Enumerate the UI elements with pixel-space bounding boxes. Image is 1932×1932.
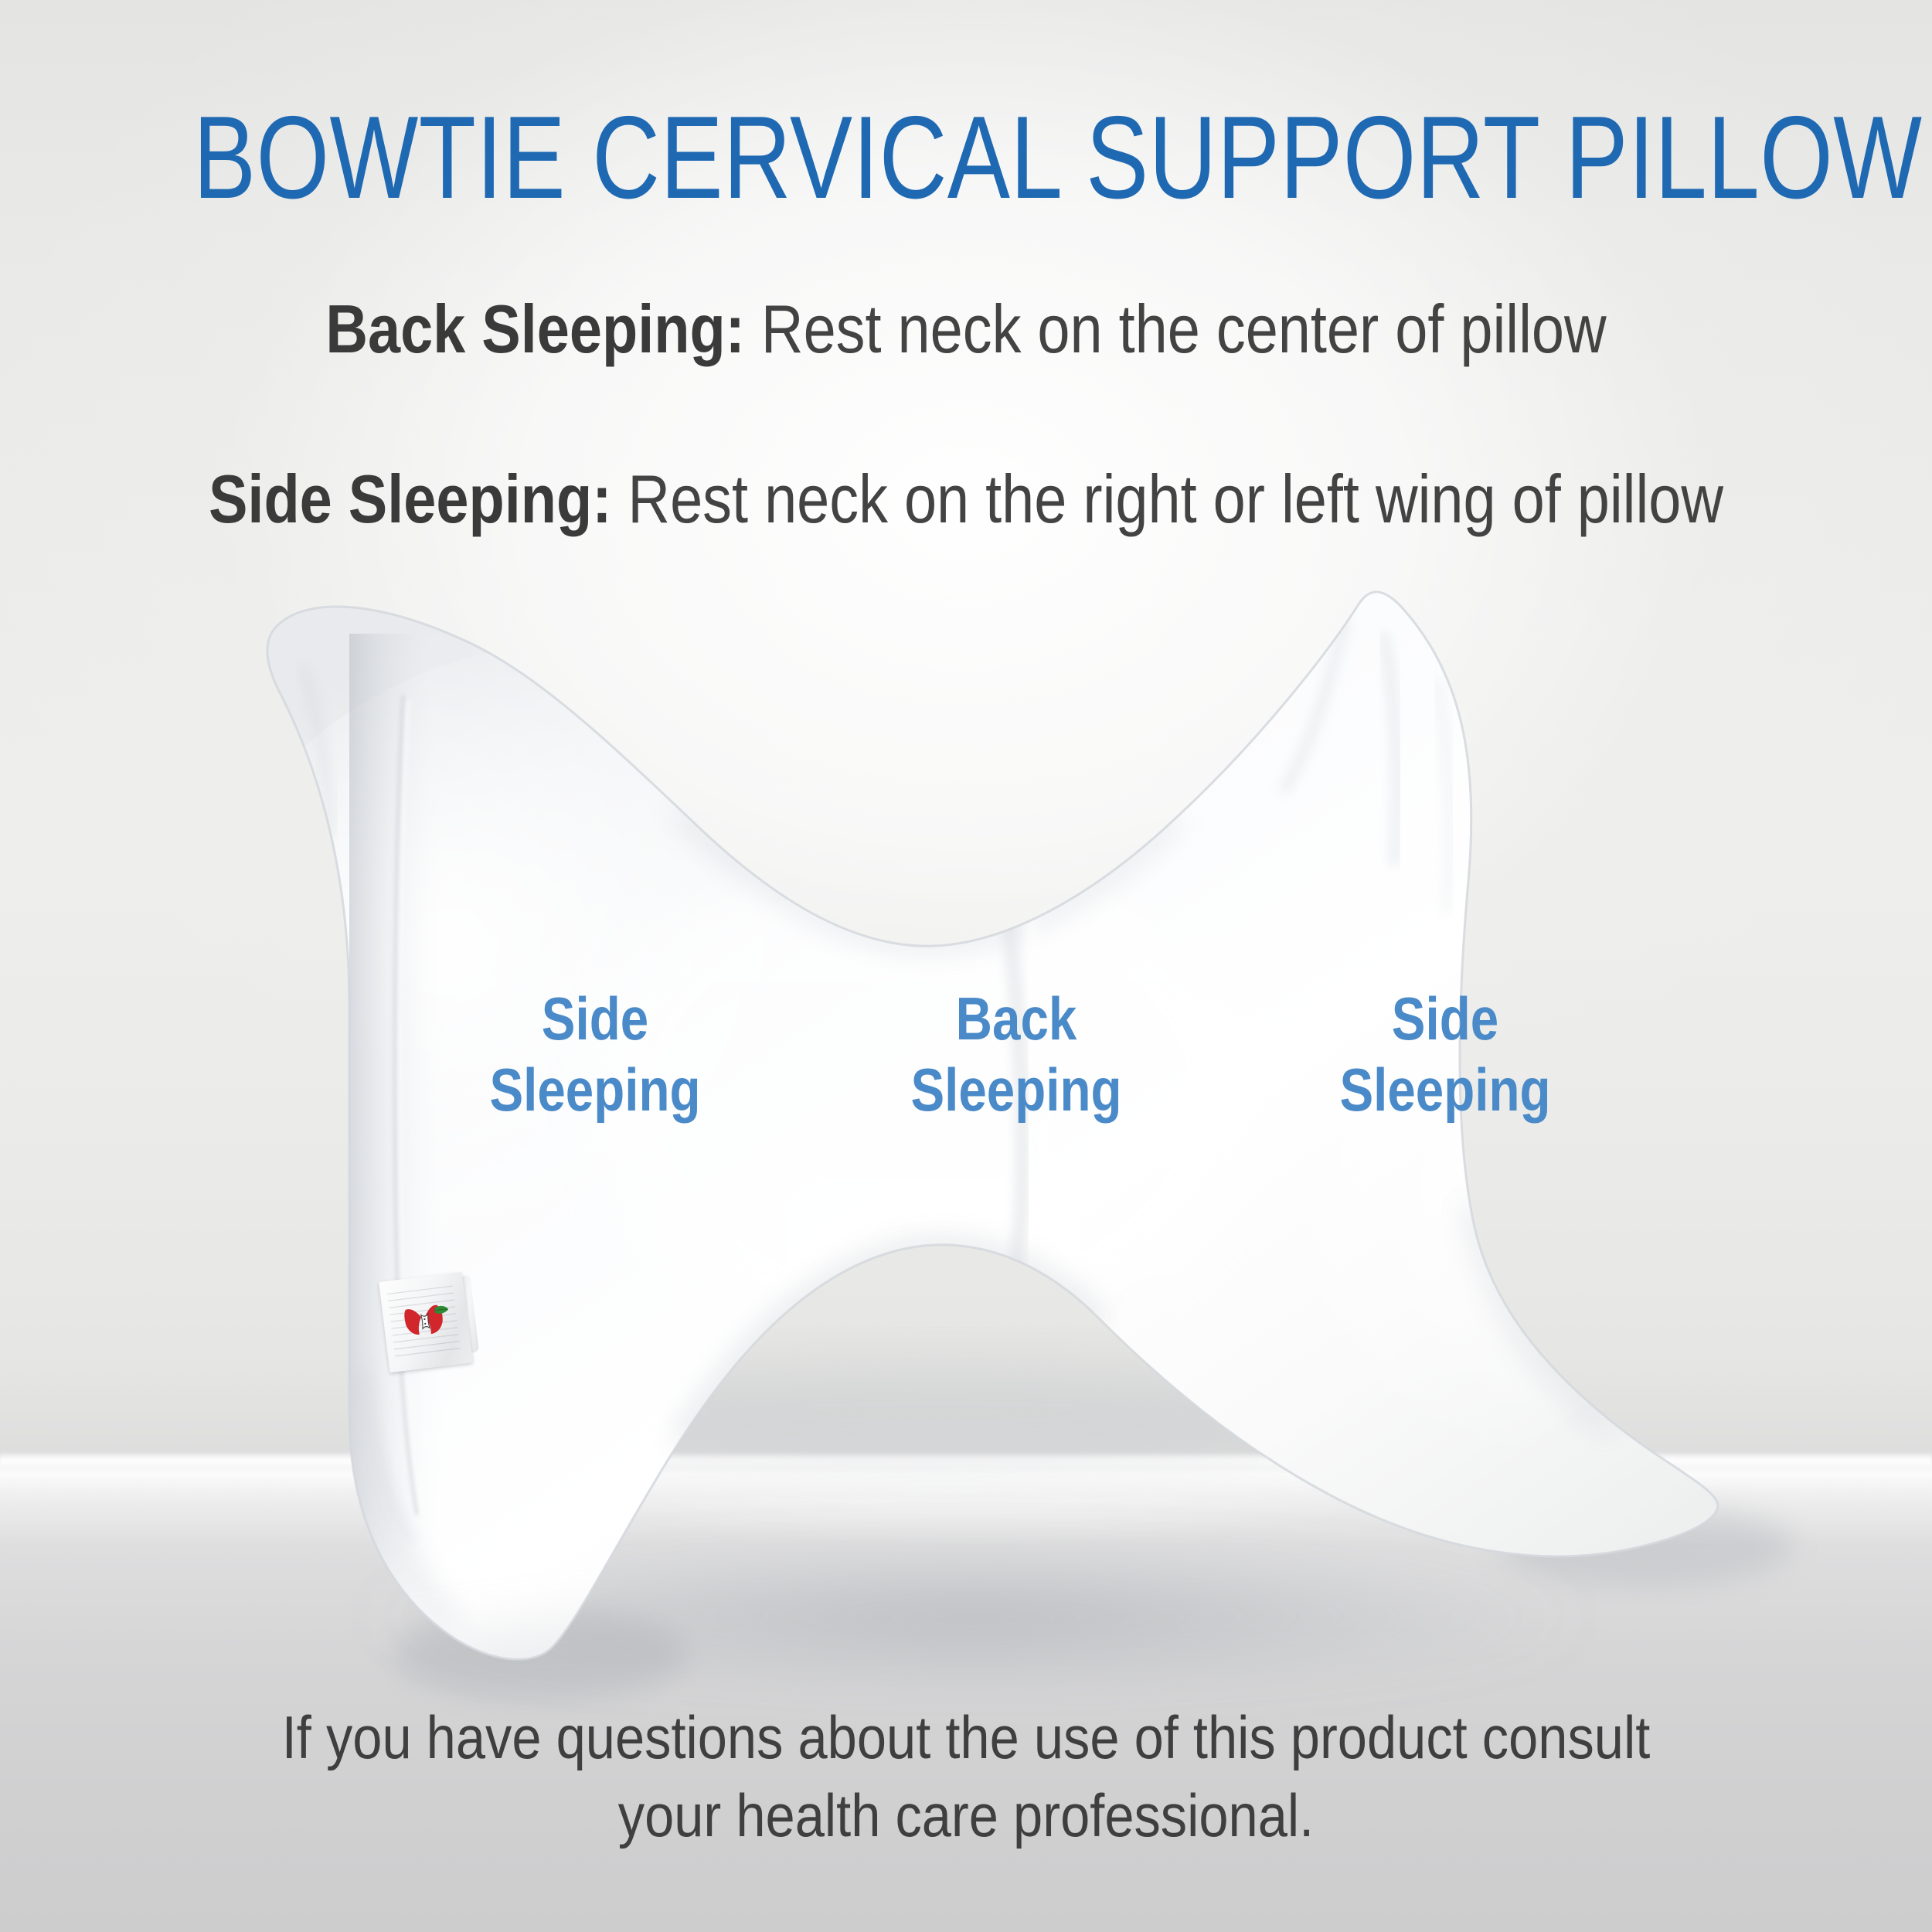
pillow-label-center-line2: Sleeping [906, 1054, 1127, 1125]
page-title: BOWTIE CERVICAL SUPPORT PILLOW [193, 99, 1739, 216]
instruction-side-sleeping-text: Rest neck on the right or left wing of p… [611, 461, 1723, 537]
pillow-label-center-line1: Back [956, 985, 1077, 1053]
pillow-label-center-back-sleeping: Back Sleeping [906, 983, 1127, 1125]
disclaimer-text: If you have questions about the use of t… [116, 1699, 1816, 1855]
backdrop-seam-highlight [0, 1451, 1932, 1471]
pillow-outline [267, 592, 1718, 1659]
disclaimer-line-1: If you have questions about the use of t… [116, 1699, 1816, 1777]
pillow-body [267, 592, 1718, 1659]
product-infographic: BOWTIE CERVICAL SUPPORT PILLOW Back Slee… [0, 0, 1932, 1932]
instruction-side-sleeping-label: Side Sleeping: [209, 461, 611, 537]
floor-glow [155, 1462, 1777, 1694]
pillow-product-image [0, 0, 1932, 1932]
pillow-highlight-right [997, 811, 1723, 1476]
instruction-back-sleeping-text: Rest neck on the center of pillow [745, 291, 1607, 367]
pillow-cast-shadow [355, 1359, 1793, 1699]
pillow-label-left-line2: Sleeping [485, 1054, 706, 1125]
pillow-seam-left [395, 696, 417, 1515]
pillow-label-left-line1: Side [542, 985, 648, 1053]
instruction-back-sleeping: Back Sleeping: Rest neck on the center o… [135, 295, 1797, 363]
pillow-label-right-line2: Sleeping [1335, 1054, 1556, 1125]
disclaimer-line-2: your health care professional. [116, 1777, 1816, 1855]
instruction-back-sleeping-label: Back Sleeping: [325, 291, 745, 367]
pillow-bottom-notch-shade [541, 1245, 1329, 1700]
pillow-left-edge-shade [349, 634, 450, 1669]
pillow-top-notch-shade [510, 541, 1414, 946]
pillow-label-right-line1: Side [1392, 985, 1498, 1053]
pillow-label-right-side-sleeping: Side Sleeping [1335, 983, 1556, 1125]
pillow-label-left-side-sleeping: Side Sleeping [485, 983, 706, 1125]
bowtie-pillow-logo-icon [396, 1295, 455, 1348]
instruction-side-sleeping: Side Sleeping: Rest neck on the right or… [135, 465, 1797, 533]
pillow-illustration [0, 0, 1932, 1932]
care-tag [379, 1272, 473, 1372]
